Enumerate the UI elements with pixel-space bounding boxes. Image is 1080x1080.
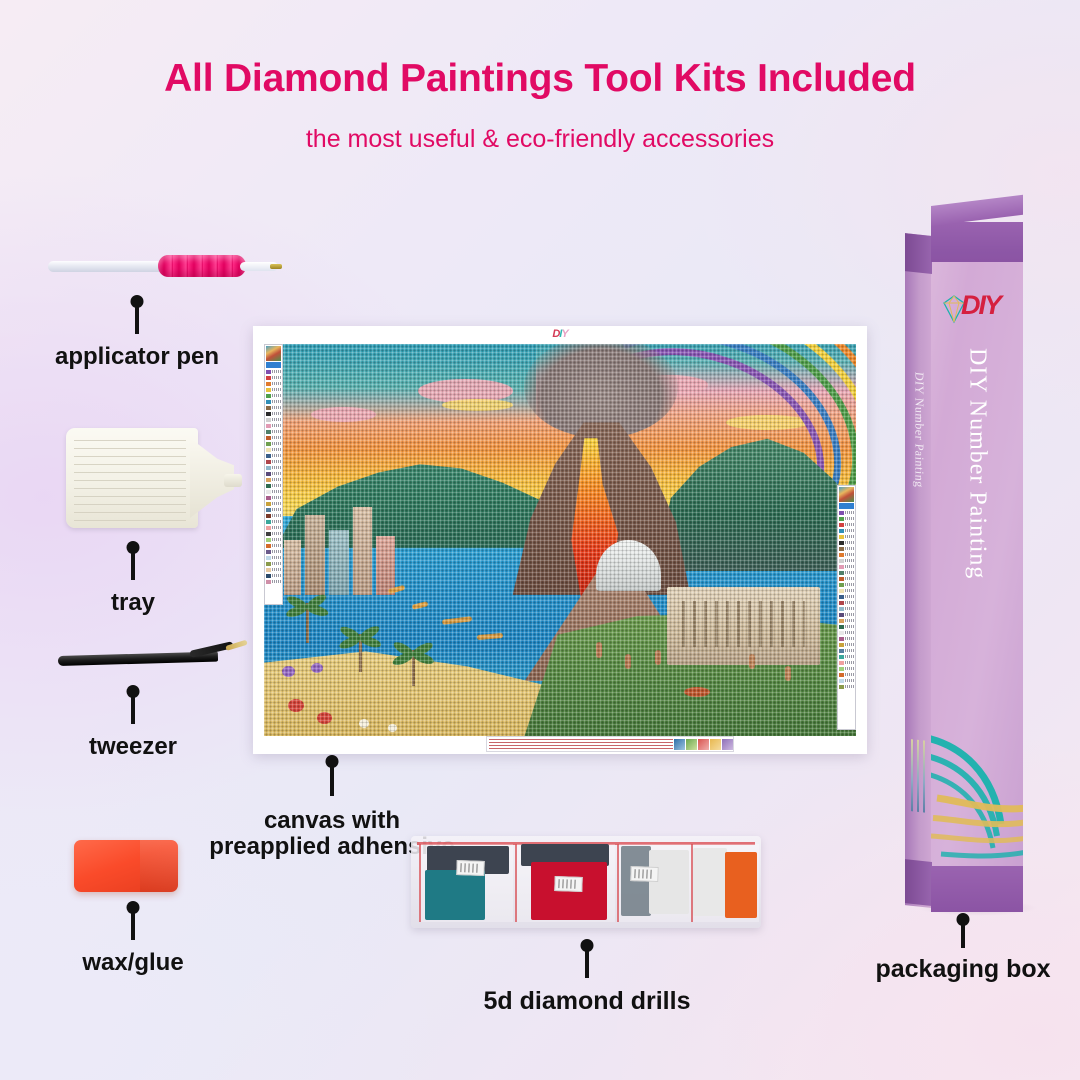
legend-code bbox=[272, 430, 281, 433]
legend-swatch bbox=[266, 406, 271, 410]
instruction-thumb-icon bbox=[722, 739, 733, 750]
legend-code bbox=[272, 370, 281, 373]
artwork-hula-dancer bbox=[655, 650, 661, 665]
legend-row bbox=[839, 594, 854, 599]
legend-code bbox=[845, 601, 854, 604]
legend-row bbox=[839, 672, 854, 677]
legend-swatch bbox=[266, 508, 271, 512]
box-side-title: DIY Number Painting bbox=[907, 371, 931, 704]
box-side-title-text: DIY Number Painting bbox=[912, 371, 927, 703]
legend-swatch bbox=[266, 574, 271, 578]
legend-code bbox=[272, 400, 281, 403]
legend-code bbox=[272, 484, 281, 487]
drill-fill-orange bbox=[725, 852, 757, 918]
legend-row bbox=[266, 375, 281, 380]
legend-swatch bbox=[266, 544, 271, 548]
artwork-musician bbox=[749, 654, 755, 669]
legend-row bbox=[266, 369, 281, 374]
brush-icon bbox=[911, 739, 913, 811]
legend-code bbox=[845, 673, 854, 676]
legend-row bbox=[839, 546, 854, 551]
tray-ribs bbox=[74, 440, 186, 522]
legend-row bbox=[266, 417, 281, 422]
legend-swatch bbox=[839, 673, 844, 677]
bag-label-lines bbox=[460, 863, 461, 872]
legend-row bbox=[839, 600, 854, 605]
legend-row bbox=[266, 483, 281, 488]
legend-code bbox=[272, 496, 281, 499]
legend-code bbox=[845, 583, 854, 586]
legend-code bbox=[272, 406, 281, 409]
brush-icon bbox=[917, 740, 919, 812]
legend-thumbnail bbox=[266, 346, 281, 361]
callout-label-tweezer: tweezer bbox=[89, 734, 177, 760]
legend-code bbox=[845, 631, 854, 634]
legend-swatch bbox=[266, 496, 271, 500]
callout-leader-line bbox=[330, 760, 334, 796]
callout-leader-line bbox=[131, 906, 135, 940]
legend-swatch bbox=[839, 667, 844, 671]
legend-row bbox=[266, 495, 281, 500]
legend-row bbox=[839, 630, 854, 635]
legend-swatch bbox=[839, 685, 844, 689]
legend-code bbox=[845, 667, 854, 670]
legend-row bbox=[266, 501, 281, 506]
tray-body bbox=[66, 428, 198, 528]
legend-code bbox=[845, 517, 854, 520]
legend-code bbox=[272, 472, 281, 475]
legend-row bbox=[266, 465, 281, 470]
ribbon-swirls-icon bbox=[931, 716, 1023, 866]
instruction-thumb-icon bbox=[674, 739, 685, 750]
artwork-hula-dancer bbox=[596, 642, 602, 658]
box-front-title: DIY Number Painting bbox=[931, 348, 1023, 708]
legend-swatch bbox=[839, 637, 844, 641]
legend-swatch bbox=[266, 418, 271, 422]
artwork-plumeria bbox=[359, 719, 369, 728]
legend-row bbox=[839, 582, 854, 587]
wax-glue-image bbox=[74, 840, 178, 892]
legend-swatch bbox=[266, 532, 271, 536]
logo-letter-d: D bbox=[552, 328, 559, 340]
legend-swatch bbox=[266, 370, 271, 374]
legend-row bbox=[266, 489, 281, 494]
legend-swatch bbox=[266, 466, 271, 470]
legend-swatch bbox=[839, 583, 844, 587]
artwork-palm-tree bbox=[294, 603, 320, 643]
legend-code bbox=[845, 613, 854, 616]
artwork-luau-pig bbox=[684, 687, 710, 697]
legend-code bbox=[272, 454, 281, 457]
canvas-diy-logo: DIY bbox=[552, 328, 567, 340]
instruction-thumb-icon bbox=[686, 739, 697, 750]
canvas-color-legend-left bbox=[264, 344, 283, 605]
legend-code bbox=[845, 565, 854, 568]
instruction-text-block bbox=[489, 739, 673, 749]
legend-row bbox=[839, 678, 854, 683]
legend-swatch bbox=[266, 538, 271, 542]
legend-row bbox=[266, 441, 281, 446]
tray-image bbox=[66, 424, 244, 532]
legend-row bbox=[266, 423, 281, 428]
legend-code bbox=[845, 679, 854, 682]
legend-row bbox=[839, 558, 854, 563]
legend-swatch bbox=[839, 541, 844, 545]
legend-swatch bbox=[266, 382, 271, 386]
legend-swatch bbox=[266, 442, 271, 446]
drill-bag bbox=[515, 844, 615, 922]
legend-swatch bbox=[266, 454, 271, 458]
bag-label-tag bbox=[456, 860, 485, 876]
legend-code bbox=[845, 649, 854, 652]
legend-row bbox=[839, 522, 854, 527]
legend-row bbox=[266, 381, 281, 386]
legend-swatch bbox=[839, 577, 844, 581]
legend-row bbox=[839, 606, 854, 611]
legend-swatch bbox=[266, 460, 271, 464]
legend-code bbox=[272, 478, 281, 481]
legend-row bbox=[266, 555, 281, 560]
callout-canvas-line1: canvas with bbox=[264, 807, 400, 834]
legend-row bbox=[266, 447, 281, 452]
legend-row bbox=[266, 513, 281, 518]
legend-row bbox=[839, 510, 854, 515]
page-subtitle: the most useful & eco-friendly accessori… bbox=[0, 125, 1080, 154]
legend-row bbox=[266, 399, 281, 404]
legend-row bbox=[266, 567, 281, 572]
tweezer-image bbox=[58, 648, 248, 672]
artwork-building bbox=[329, 530, 350, 595]
legend-code bbox=[272, 442, 281, 445]
callout-leader-line bbox=[135, 300, 139, 334]
legend-swatch bbox=[839, 679, 844, 683]
legend-row bbox=[266, 405, 281, 410]
legend-code bbox=[272, 508, 281, 511]
legend-code bbox=[845, 607, 854, 610]
drill-bag bbox=[691, 844, 759, 922]
callout-leader-line bbox=[961, 918, 965, 948]
legend-swatch bbox=[839, 607, 844, 611]
legend-row bbox=[839, 552, 854, 557]
legend-code bbox=[272, 448, 281, 451]
artwork-musician bbox=[785, 666, 791, 681]
diamond-drills-image bbox=[411, 836, 761, 928]
artwork-city-skyline bbox=[282, 493, 412, 595]
drill-bag bbox=[617, 844, 691, 922]
legend-row bbox=[266, 579, 281, 584]
legend-row bbox=[839, 660, 854, 665]
legend-code bbox=[272, 526, 281, 529]
box-cap-bottom bbox=[931, 866, 1023, 912]
legend-swatch bbox=[266, 562, 271, 566]
legend-swatch bbox=[839, 517, 844, 521]
legend-swatch bbox=[839, 649, 844, 653]
legend-swatch bbox=[839, 535, 844, 539]
drill-fill-white bbox=[693, 848, 727, 916]
box-cap-bottom-side bbox=[905, 859, 932, 906]
legend-code bbox=[272, 412, 281, 415]
legend-row bbox=[266, 477, 281, 482]
legend-swatch bbox=[266, 520, 271, 524]
legend-code bbox=[272, 502, 281, 505]
bag-label-lines bbox=[634, 869, 635, 878]
legend-code bbox=[845, 541, 854, 544]
legend-row bbox=[266, 453, 281, 458]
callout-label-wax-glue: wax/glue bbox=[82, 950, 183, 976]
artwork-building bbox=[353, 507, 371, 595]
legend-code bbox=[272, 436, 281, 439]
legend-row bbox=[839, 570, 854, 575]
legend-row bbox=[266, 519, 281, 524]
box-front-title-text: DIY Number Painting bbox=[964, 348, 991, 579]
legend-row bbox=[266, 507, 281, 512]
box-brush-illustration bbox=[909, 731, 929, 813]
legend-code bbox=[845, 529, 854, 532]
legend-swatch bbox=[839, 661, 844, 665]
legend-row bbox=[839, 648, 854, 653]
legend-row bbox=[839, 654, 854, 659]
legend-code bbox=[845, 685, 854, 688]
legend-row bbox=[839, 528, 854, 533]
infographic-canvas: All Diamond Paintings Tool Kits Included… bbox=[0, 0, 1080, 1080]
legend-code bbox=[272, 538, 281, 541]
legend-code bbox=[845, 559, 854, 562]
callout-label-applicator-pen: applicator pen bbox=[55, 344, 219, 370]
legend-swatch bbox=[839, 553, 844, 557]
artwork-hula-dancer bbox=[625, 654, 631, 669]
legend-code bbox=[272, 544, 281, 547]
legend-swatch bbox=[839, 613, 844, 617]
legend-swatch bbox=[266, 484, 271, 488]
legend-row bbox=[266, 573, 281, 578]
legend-thumbnail bbox=[839, 487, 854, 502]
pen-shaft-left bbox=[48, 261, 176, 272]
legend-code bbox=[845, 595, 854, 598]
legend-swatch bbox=[266, 550, 271, 554]
canvas-artwork bbox=[264, 344, 856, 736]
legend-code bbox=[845, 523, 854, 526]
legend-swatch bbox=[266, 580, 271, 584]
legend-code bbox=[845, 655, 854, 658]
legend-row bbox=[839, 534, 854, 539]
drill-bag bbox=[419, 844, 513, 922]
legend-swatch bbox=[266, 472, 271, 476]
legend-row bbox=[839, 540, 854, 545]
legend-code bbox=[272, 424, 281, 427]
legend-swatch bbox=[839, 601, 844, 605]
legend-code bbox=[272, 460, 281, 463]
legend-code bbox=[272, 520, 281, 523]
legend-row bbox=[839, 588, 854, 593]
canvas-color-legend-right bbox=[837, 485, 856, 730]
legend-swatch bbox=[839, 631, 844, 635]
legend-swatch bbox=[266, 430, 271, 434]
legend-row bbox=[839, 564, 854, 569]
legend-swatch bbox=[266, 478, 271, 482]
legend-code bbox=[272, 562, 281, 565]
legend-swatch bbox=[266, 448, 271, 452]
box-cap-top bbox=[931, 222, 1023, 262]
legend-swatch bbox=[266, 514, 271, 518]
legend-swatch bbox=[266, 412, 271, 416]
legend-row bbox=[266, 471, 281, 476]
legend-code bbox=[845, 643, 854, 646]
legend-row bbox=[839, 636, 854, 641]
artwork-palm-tree bbox=[400, 650, 426, 686]
legend-row bbox=[266, 387, 281, 392]
legend-swatch bbox=[266, 526, 271, 530]
legend-code bbox=[272, 466, 281, 469]
legend-row bbox=[839, 666, 854, 671]
legend-swatch bbox=[266, 490, 271, 494]
legend-row bbox=[839, 516, 854, 521]
callout-leader-line bbox=[131, 690, 135, 724]
legend-code bbox=[272, 514, 281, 517]
legend-code bbox=[845, 625, 854, 628]
legend-row bbox=[266, 549, 281, 554]
packaging-box-image: DIY DIY Number Painting DIY Number Paint… bbox=[905, 222, 1047, 912]
legend-swatch bbox=[266, 388, 271, 392]
callout-leader-line bbox=[585, 944, 589, 978]
legend-swatch bbox=[266, 436, 271, 440]
instruction-thumb-icon bbox=[698, 739, 709, 750]
legend-swatch bbox=[839, 571, 844, 575]
brush-icon bbox=[923, 740, 925, 812]
legend-swatch bbox=[839, 547, 844, 551]
legend-code bbox=[845, 661, 854, 664]
box-ribbon-graphic bbox=[931, 716, 1023, 866]
artwork-building bbox=[284, 540, 301, 595]
legend-swatch bbox=[266, 376, 271, 380]
legend-code bbox=[845, 577, 854, 580]
legend-swatch bbox=[266, 394, 271, 398]
legend-row bbox=[839, 618, 854, 623]
legend-swatch bbox=[839, 643, 844, 647]
legend-swatch bbox=[266, 568, 271, 572]
artwork-orchid bbox=[282, 666, 295, 677]
legend-row bbox=[266, 531, 281, 536]
legend-code bbox=[845, 637, 854, 640]
legend-row bbox=[839, 684, 854, 689]
legend-swatch bbox=[266, 424, 271, 428]
legend-row bbox=[266, 525, 281, 530]
legend-swatch bbox=[839, 589, 844, 593]
brand-letter-group-1: DIY bbox=[961, 290, 1000, 320]
legend-code bbox=[845, 553, 854, 556]
legend-code bbox=[272, 550, 281, 553]
legend-swatch bbox=[839, 523, 844, 527]
bag-label-tag bbox=[554, 876, 583, 892]
legend-swatch bbox=[839, 625, 844, 629]
legend-code bbox=[272, 388, 281, 391]
legend-code bbox=[272, 382, 281, 385]
drill-fill-white bbox=[649, 850, 689, 914]
legend-swatch bbox=[266, 556, 271, 560]
legend-swatch bbox=[839, 655, 844, 659]
canvas-image: DIY bbox=[253, 326, 867, 754]
legend-header bbox=[839, 503, 854, 509]
artwork-palace bbox=[667, 587, 821, 665]
legend-code bbox=[272, 376, 281, 379]
legend-code bbox=[272, 556, 281, 559]
legend-code bbox=[845, 571, 854, 574]
legend-code bbox=[845, 619, 854, 622]
legend-swatch bbox=[839, 595, 844, 599]
legend-row bbox=[839, 612, 854, 617]
callout-label-diamond-drills: 5d diamond drills bbox=[484, 988, 691, 1015]
pen-grip bbox=[158, 255, 246, 277]
legend-row bbox=[266, 537, 281, 542]
legend-code bbox=[845, 511, 854, 514]
artwork-building bbox=[376, 536, 396, 595]
pen-tip bbox=[270, 264, 282, 269]
legend-row bbox=[839, 624, 854, 629]
legend-swatch bbox=[266, 502, 271, 506]
legend-code bbox=[272, 394, 281, 397]
box-brand-text: DIY bbox=[961, 290, 1000, 321]
applicator-pen-image bbox=[48, 252, 280, 280]
legend-row bbox=[839, 642, 854, 647]
tray-spout bbox=[224, 474, 242, 487]
legend-swatch bbox=[839, 529, 844, 533]
canvas-instruction-strip bbox=[486, 736, 734, 752]
legend-row bbox=[266, 543, 281, 548]
artwork-scene bbox=[264, 344, 856, 736]
legend-swatch bbox=[266, 400, 271, 404]
legend-code bbox=[845, 589, 854, 592]
bag-label-lines bbox=[558, 879, 559, 888]
legend-swatch bbox=[839, 565, 844, 569]
legend-code bbox=[272, 568, 281, 571]
page-title: All Diamond Paintings Tool Kits Included bbox=[0, 57, 1080, 101]
legend-row bbox=[266, 429, 281, 434]
legend-swatch bbox=[839, 511, 844, 515]
legend-code bbox=[845, 547, 854, 550]
legend-code bbox=[272, 580, 281, 583]
legend-code bbox=[272, 418, 281, 421]
legend-swatch bbox=[839, 559, 844, 563]
legend-row bbox=[266, 435, 281, 440]
bag-label-tag bbox=[630, 866, 659, 882]
artwork-building bbox=[305, 515, 325, 594]
legend-row bbox=[266, 393, 281, 398]
instruction-thumb-icon bbox=[710, 739, 721, 750]
legend-code bbox=[272, 490, 281, 493]
callout-label-packaging-box: packaging box bbox=[875, 956, 1050, 983]
legend-code bbox=[845, 535, 854, 538]
logo-letter-y: Y bbox=[561, 328, 567, 340]
legend-row bbox=[839, 576, 854, 581]
legend-header bbox=[266, 362, 281, 368]
legend-code bbox=[272, 532, 281, 535]
callout-label-tray: tray bbox=[111, 590, 155, 616]
box-brand-logo: DIY bbox=[939, 288, 1019, 332]
legend-row bbox=[266, 411, 281, 416]
legend-row bbox=[266, 459, 281, 464]
legend-code bbox=[272, 574, 281, 577]
legend-row bbox=[266, 561, 281, 566]
callout-leader-line bbox=[131, 546, 135, 580]
artwork-cloud bbox=[442, 399, 513, 411]
box-cap-top-side bbox=[905, 233, 932, 274]
legend-swatch bbox=[839, 619, 844, 623]
drill-fill-teal bbox=[425, 870, 485, 920]
artwork-palm-tree bbox=[347, 634, 373, 672]
